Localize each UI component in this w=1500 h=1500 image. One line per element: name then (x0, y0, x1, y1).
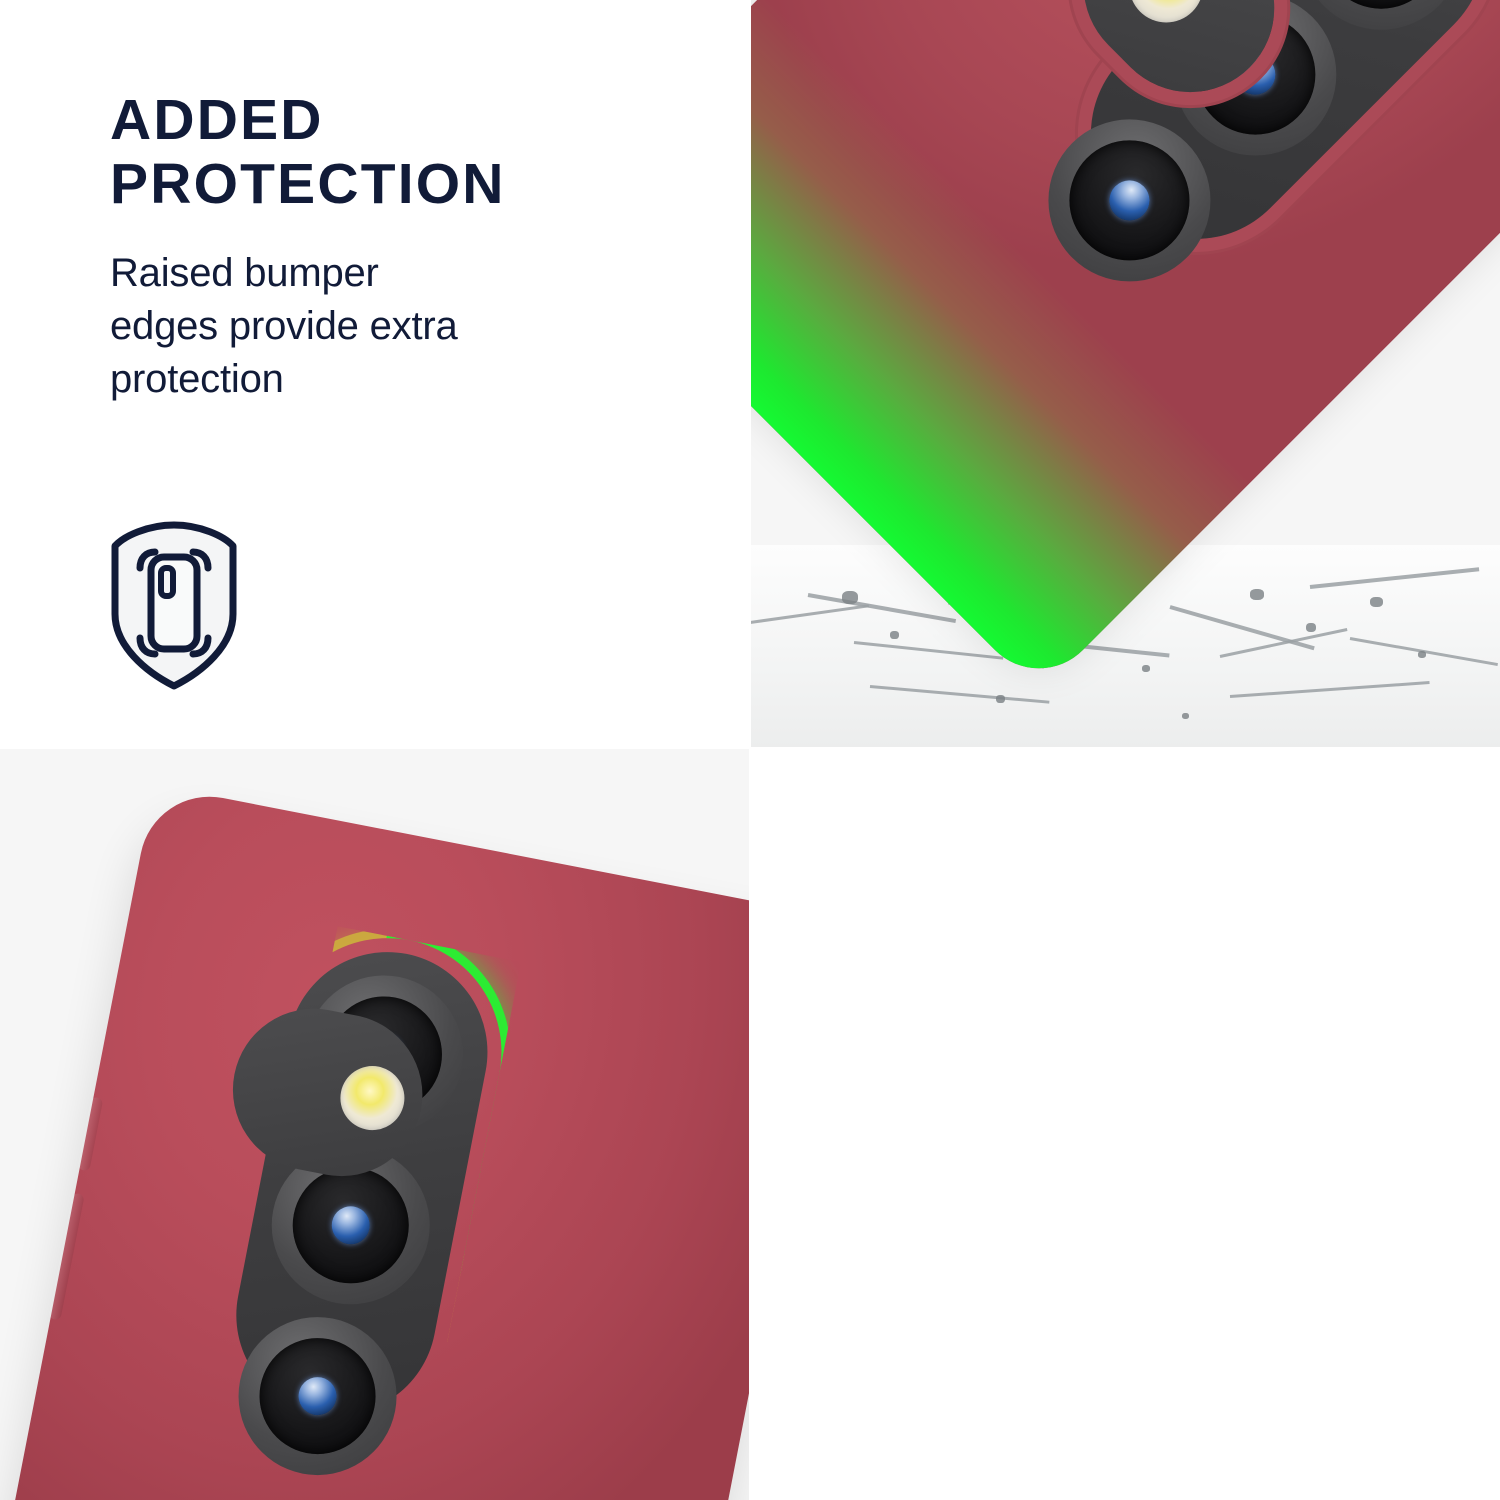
added-protection-headline: ADDED PROTECTION (110, 88, 690, 217)
panel-added-protection: ADDED PROTECTION Raised bumper edges pro… (0, 0, 750, 748)
impact-scene (750, 0, 1500, 748)
headline-line-1: ADDED (110, 88, 690, 152)
bezel-scene (0, 748, 750, 1500)
camera-module-bottom-left (219, 935, 505, 1433)
camera-flash-icon (1114, 0, 1219, 38)
panel-impact-photo (750, 0, 1500, 748)
panel-protects-camera: PROTECTS CAMERA Raised edges protect cam… (750, 748, 1500, 1500)
vertical-divider (749, 0, 751, 1500)
horizontal-divider (0, 747, 1500, 749)
side-button (48, 1193, 84, 1321)
camera-flash-icon (335, 1061, 410, 1136)
phone-case-bottom-left (0, 785, 750, 1500)
side-button (77, 1096, 103, 1171)
panel-camera-bezel-photo (0, 748, 750, 1500)
added-protection-body: Raised bumper edges provide extra protec… (110, 247, 690, 407)
shield-phone-icon (108, 520, 240, 692)
added-protection-text: ADDED PROTECTION Raised bumper edges pro… (110, 88, 690, 406)
feature-collage: ADDED PROTECTION Raised bumper edges pro… (0, 0, 1500, 1500)
camera-lens (225, 1303, 410, 1488)
headline-line-2: PROTECTION (110, 152, 690, 216)
body-line-1: Raised bumper (110, 247, 690, 300)
body-line-3: protection (110, 353, 690, 406)
body-line-2: edges provide extra (110, 300, 690, 353)
camera-module-top-right (1047, 0, 1500, 282)
